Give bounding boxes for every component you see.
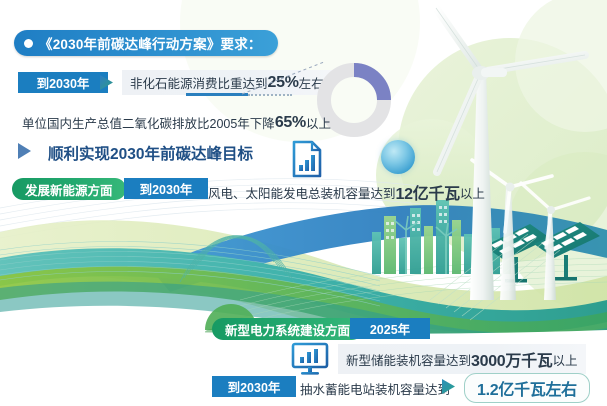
capsule-pumped-value-text: 1.2亿千瓦左右 <box>477 376 577 400</box>
infographic-canvas: 《2030年前碳达峰行动方案》要求： 到2030年 非化石能源消费比重达到25%… <box>0 0 607 406</box>
monitor-bar-chart-icon <box>290 341 330 377</box>
statement-pumped-storage: 抽水蓄能电站装机容量达到 <box>292 376 458 401</box>
header-banner: 《2030年前碳达峰行动方案》要求： <box>14 30 278 56</box>
capsule-pumped-value: 1.2亿千瓦左右 <box>464 373 590 403</box>
statement-new-storage-prefix: 新型储能装机容量达到 <box>346 350 471 369</box>
concentric-hill <box>180 236 294 283</box>
statement-co2-value: 65% <box>275 114 306 132</box>
year-badge-2025: 2025年 <box>350 318 430 339</box>
statement-new-storage: 新型储能装机容量达到3000万千瓦以上 <box>338 344 586 374</box>
accent-underline-1 <box>186 93 248 96</box>
page-title: 《2030年前碳达峰行动方案》要求： <box>39 33 262 53</box>
document-bar-chart-icon <box>290 140 324 178</box>
statement-co2-prefix: 单位国内生产总值二氧化碳排放比2005年下降 <box>22 113 275 132</box>
year-badge-2030-pumped: 到2030年 <box>212 376 296 397</box>
statement-new-storage-suffix: 以上 <box>553 350 578 369</box>
statement-wind-solar-value: 12亿千瓦 <box>396 180 460 204</box>
wave-blue <box>150 205 607 292</box>
solar-panel-illustration <box>484 222 600 283</box>
statement-wind-solar: 风电、太阳能发电总装机容量达到12亿千瓦以上 <box>200 177 493 207</box>
year-badge-2030-non-fossil: 到2030年 <box>18 72 108 93</box>
ribbon-lines <box>0 242 380 306</box>
play-arrow-icon-goal <box>18 143 31 159</box>
year-badge-2030-new-energy: 到2030年 <box>124 178 208 199</box>
wind-turbine-illustration <box>436 8 589 300</box>
category-pill-power-system: 新型电力系统建设方面 <box>212 318 363 340</box>
statement-new-storage-value: 3000万千瓦 <box>471 347 553 371</box>
statement-wind-solar-prefix: 风电、太阳能发电总装机容量达到 <box>208 183 396 202</box>
sun-sphere-icon <box>381 140 415 174</box>
statement-co2-intensity: 单位国内生产总值二氧化碳排放比2005年下降65%以上 <box>14 110 339 135</box>
bullet-dot-icon <box>24 39 33 48</box>
category-pill-new-energy: 发展新能源方面 <box>12 178 126 200</box>
statement-co2-suffix: 以上 <box>306 113 331 132</box>
statement-peak-goal: 顺利实现2030年前碳达峰目标 <box>40 139 261 167</box>
city-skyline-illustration <box>372 200 511 274</box>
statement-wind-solar-suffix: 以上 <box>460 183 485 202</box>
